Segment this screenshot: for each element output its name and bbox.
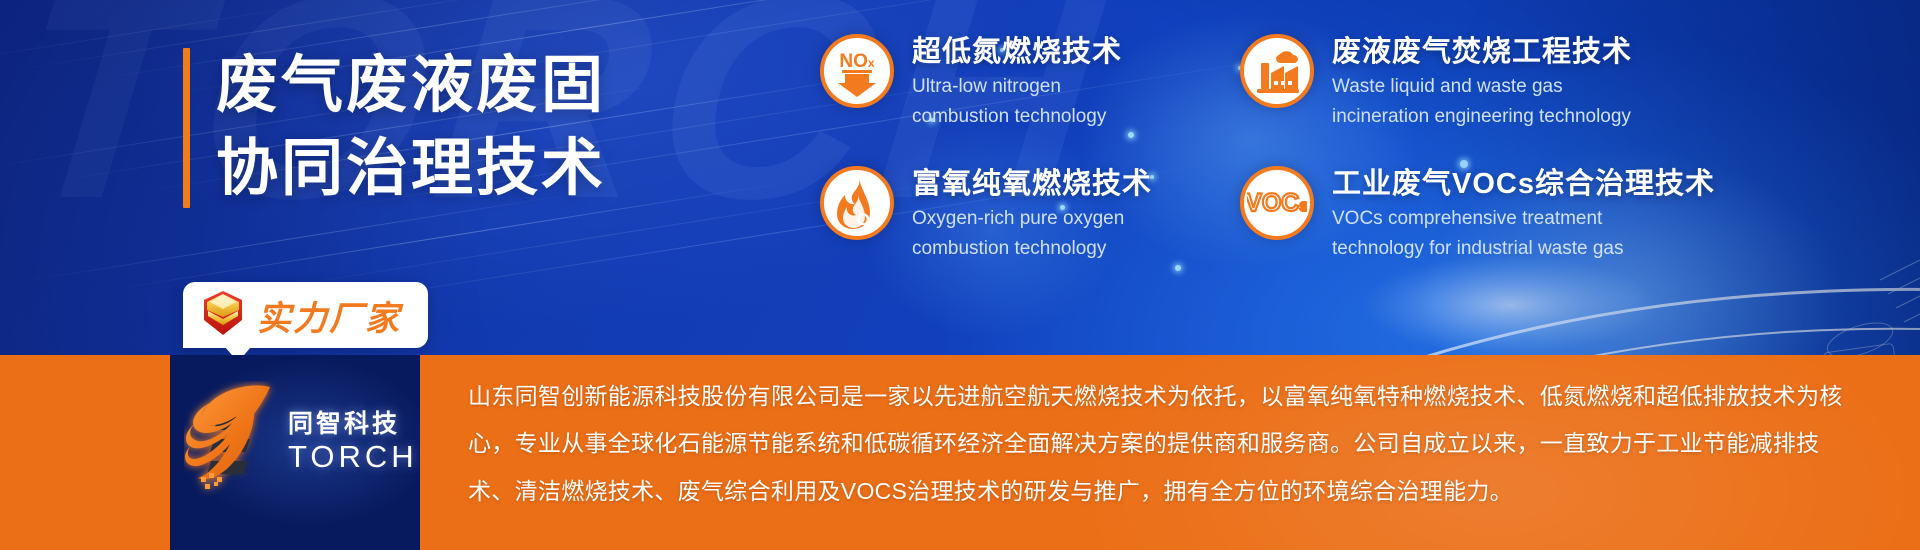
vocs-text-icon: VOCs [1240, 166, 1314, 240]
feature-title-cn: 超低氮燃烧技术 [912, 36, 1122, 69]
feature-item-incineration[interactable]: 废液废气焚烧工程技术 Waste liquid and waste gas in… [1240, 34, 1660, 166]
company-description: 山东同智创新能源科技股份有限公司是一家以先进航空航天燃烧技术为依托，以富氧纯氧特… [468, 373, 1858, 515]
torch-flame-logo [184, 381, 282, 506]
feature-title-en-1: VOCs comprehensive treatment [1332, 206, 1715, 231]
feature-title-en-1: Ultra-low nitrogen [912, 74, 1122, 99]
feature-title-cn: 工业废气VOCs综合治理技术 [1332, 168, 1715, 201]
logo-name-en: TORCH [288, 440, 418, 474]
feature-title-en-2: combustion technology [912, 236, 1152, 261]
feature-list: NOx 超低氮燃烧技术 Ultra-low nitrogen combustio… [820, 34, 1660, 298]
strength-manufacturer-badge[interactable]: 实力厂家 [183, 282, 428, 348]
flame-o2-icon: O2 [820, 166, 894, 240]
svg-text:O2: O2 [857, 210, 876, 231]
feature-item-oxygen[interactable]: O2 富氧纯氧燃烧技术 Oxygen-rich pure oxygen comb… [820, 166, 1220, 298]
svg-text:NOx: NOx [839, 51, 875, 72]
feature-title-en-2: combustion technology [912, 104, 1122, 129]
hero-title: 废气废液废固 协同治理技术 [183, 48, 606, 208]
hero-title-line2: 协同治理技术 [216, 131, 606, 208]
shield-medal-icon [201, 290, 245, 341]
feature-item-nox[interactable]: NOx 超低氮燃烧技术 Ultra-low nitrogen combustio… [820, 34, 1220, 166]
feature-title-cn: 富氧纯氧燃烧技术 [912, 168, 1152, 201]
hero-title-line1: 废气废液废固 [216, 48, 606, 125]
logo-name-cn: 同智科技 [288, 410, 400, 438]
feature-title-en-2: incineration engineering technology [1332, 104, 1632, 129]
promo-banner: TORCH [0, 0, 1920, 550]
feature-item-vocs[interactable]: VOCs 工业废气VOCs综合治理技术 VOCs comprehensive t… [1240, 166, 1660, 298]
feature-title-cn: 废液废气焚烧工程技术 [1332, 36, 1632, 69]
svg-text:VOCs: VOCs [1247, 189, 1307, 217]
factory-smokestack-icon [1240, 34, 1314, 108]
badge-label: 实力厂家 [257, 291, 401, 340]
title-accent-bar [183, 48, 190, 208]
feature-title-en-1: Oxygen-rich pure oxygen [912, 206, 1152, 231]
nox-down-arrow-icon: NOx [820, 34, 894, 108]
feature-title-en-1: Waste liquid and waste gas [1332, 74, 1632, 99]
company-logo-panel[interactable]: 同智科技 TORCH [170, 355, 420, 550]
feature-title-en-2: technology for industrial waste gas [1332, 236, 1715, 261]
